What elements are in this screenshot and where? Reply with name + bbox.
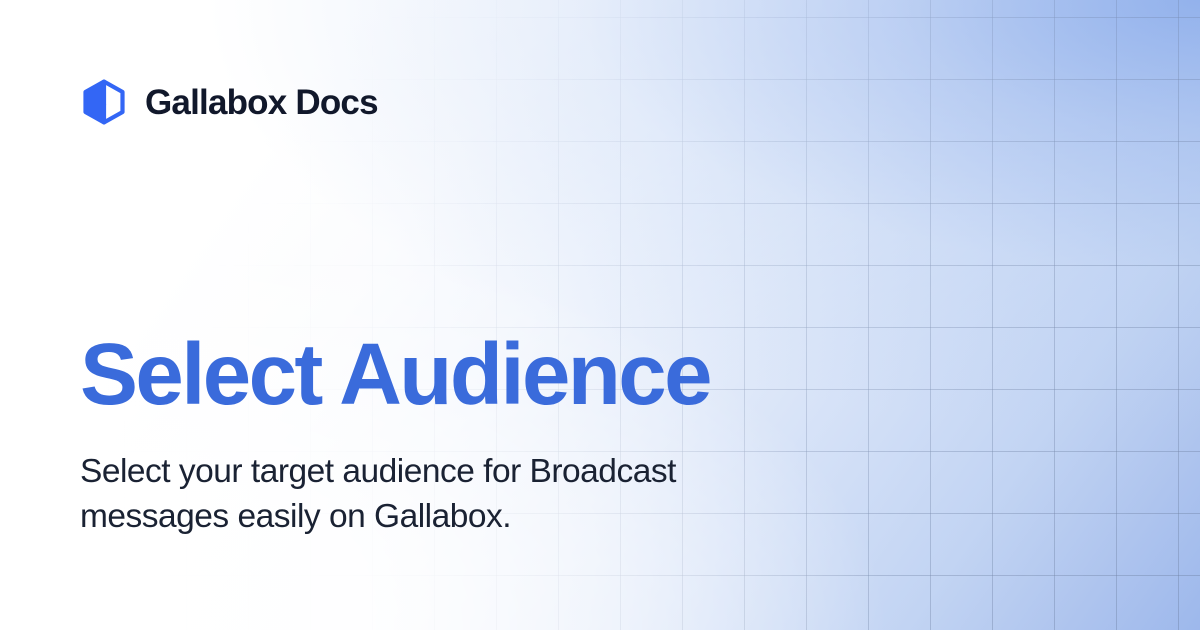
brand-lockup: Gallabox Docs <box>80 78 378 126</box>
page-title: Select Audience <box>80 331 1080 418</box>
og-banner: Gallabox Docs Select Audience Select you… <box>0 0 1200 630</box>
hero-section: Select Audience Select your target audie… <box>80 331 1080 539</box>
page-subtitle: Select your target audience for Broadcas… <box>80 450 820 539</box>
brand-name: Gallabox Docs <box>145 85 378 120</box>
gallabox-cube-logo-icon <box>80 78 128 126</box>
